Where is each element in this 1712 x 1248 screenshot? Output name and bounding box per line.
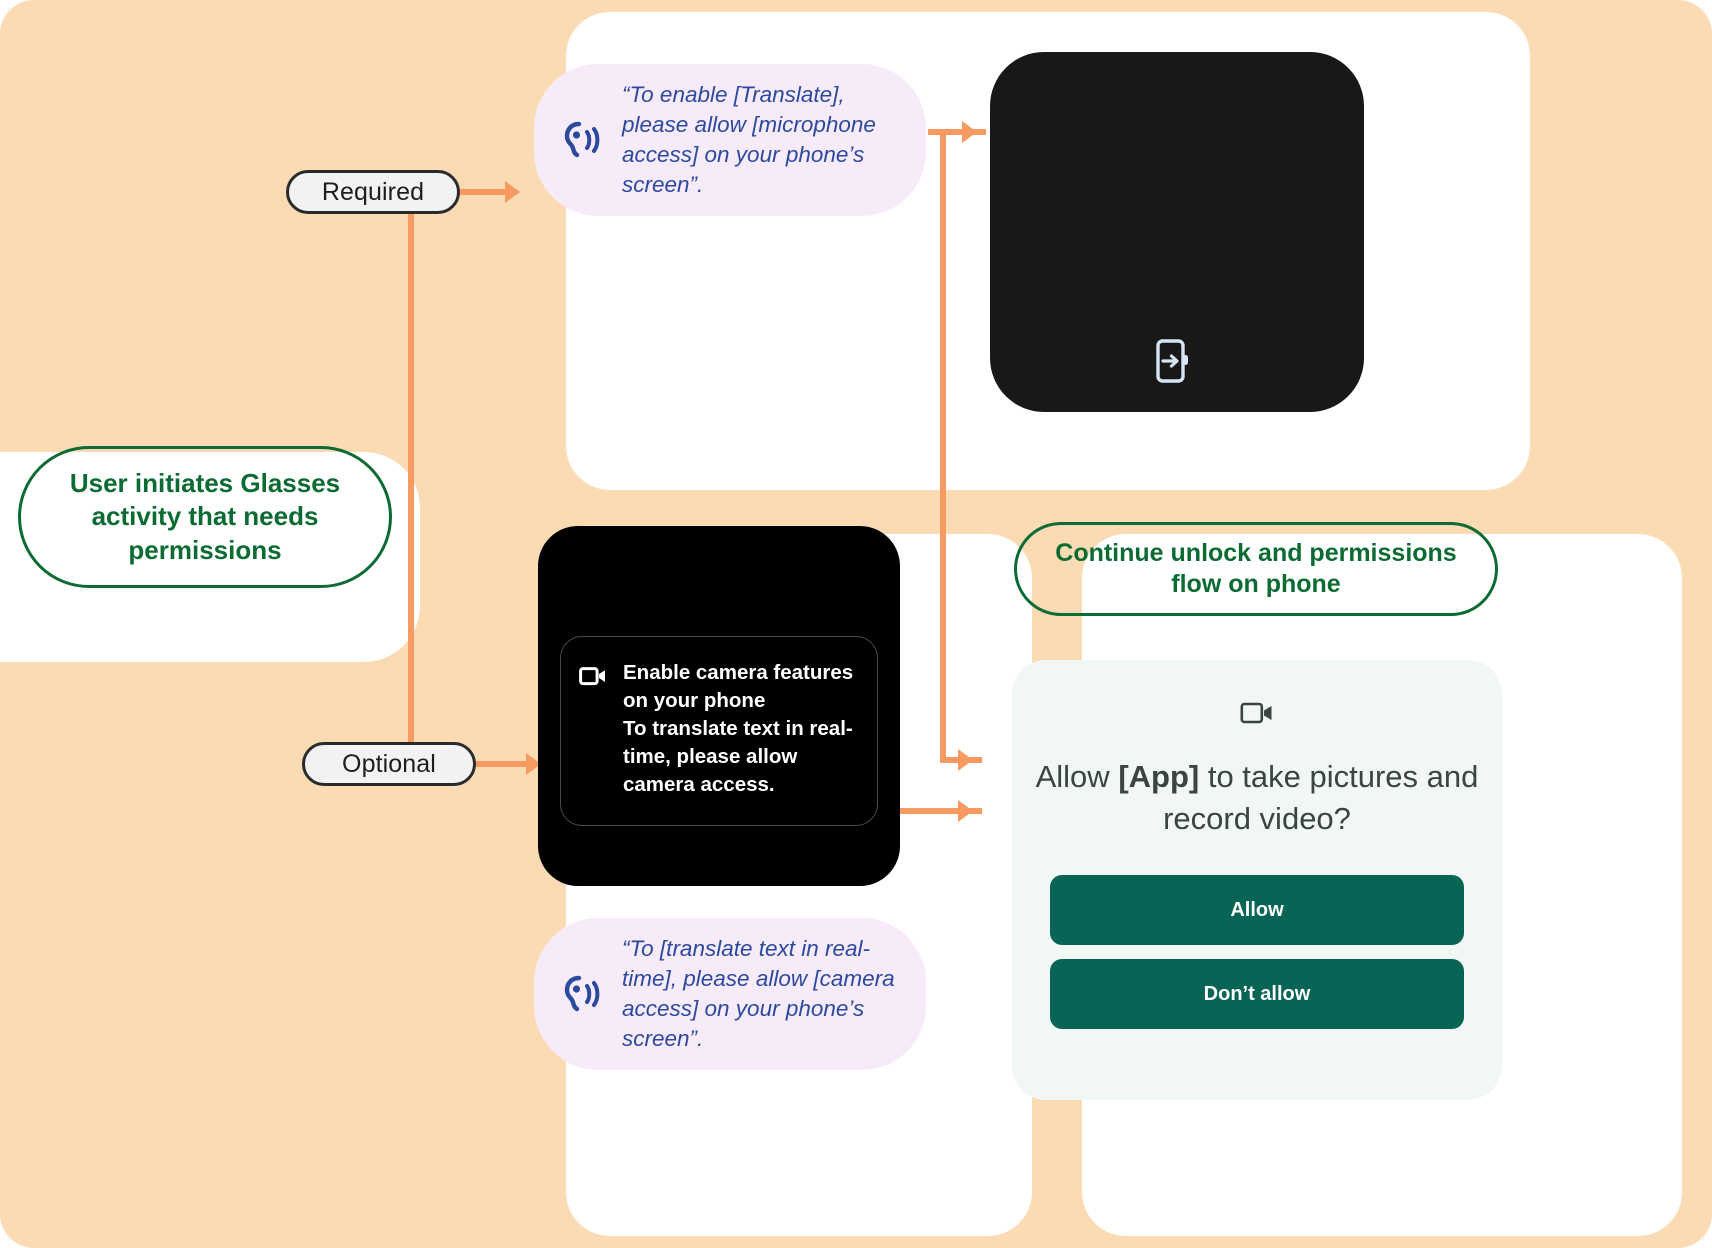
glasses-notification-title: Enable camera features on your phone <box>623 659 857 715</box>
arrowhead-required <box>505 181 520 203</box>
phone-enter-icon <box>1155 338 1191 384</box>
permission-question-app: [App] <box>1118 759 1199 794</box>
speech-bubble-microphone: “To enable [Translate], please allow [mi… <box>534 64 926 216</box>
arrowhead-glasses-top <box>962 121 977 143</box>
permission-dont-allow-button[interactable]: Don’t allow <box>1050 959 1464 1029</box>
android-permission-dialog: Allow [App] to take pictures and record … <box>1012 660 1502 1100</box>
permission-question: Allow [App] to take pictures and record … <box>1012 756 1502 839</box>
permission-question-suffix: to take pictures and record video? <box>1163 759 1478 836</box>
glasses-notification-text: Enable camera features on your phone To … <box>623 659 857 825</box>
arrowhead-phone-lower <box>958 800 973 822</box>
connector-vertical-to-phone <box>940 129 946 760</box>
node-continue-on-phone: Continue unlock and permissions flow on … <box>1014 522 1498 616</box>
permission-allow-button[interactable]: Allow <box>1050 875 1464 945</box>
diagram-canvas: User initiates Glasses activity that nee… <box>0 0 1712 1248</box>
video-camera-icon <box>1240 700 1274 726</box>
connector-trunk-vertical <box>408 192 414 764</box>
ear-hearing-icon <box>562 974 600 1014</box>
video-camera-icon <box>579 665 607 687</box>
permission-question-prefix: Allow <box>1036 759 1119 794</box>
branch-label-optional[interactable]: Optional <box>302 742 476 786</box>
node-start-user-initiates: User initiates Glasses activity that nee… <box>18 446 392 588</box>
glasses-notification-card: Enable camera features on your phone To … <box>560 636 878 826</box>
speech-bubble-camera: “To [translate text in real-time], pleas… <box>534 918 926 1070</box>
glasses-notification-body: To translate text in real-time, please a… <box>623 715 857 799</box>
connector-bubble-to-glasses <box>928 129 986 135</box>
speech-bubble-microphone-text: “To enable [Translate], please allow [mi… <box>622 80 896 201</box>
branch-label-required[interactable]: Required <box>286 170 460 214</box>
connector-optional-stub <box>472 761 534 767</box>
speech-bubble-camera-text: “To [translate text in real-time], pleas… <box>622 934 896 1055</box>
ear-hearing-icon <box>562 120 600 160</box>
arrowhead-phone-upper <box>958 749 973 771</box>
